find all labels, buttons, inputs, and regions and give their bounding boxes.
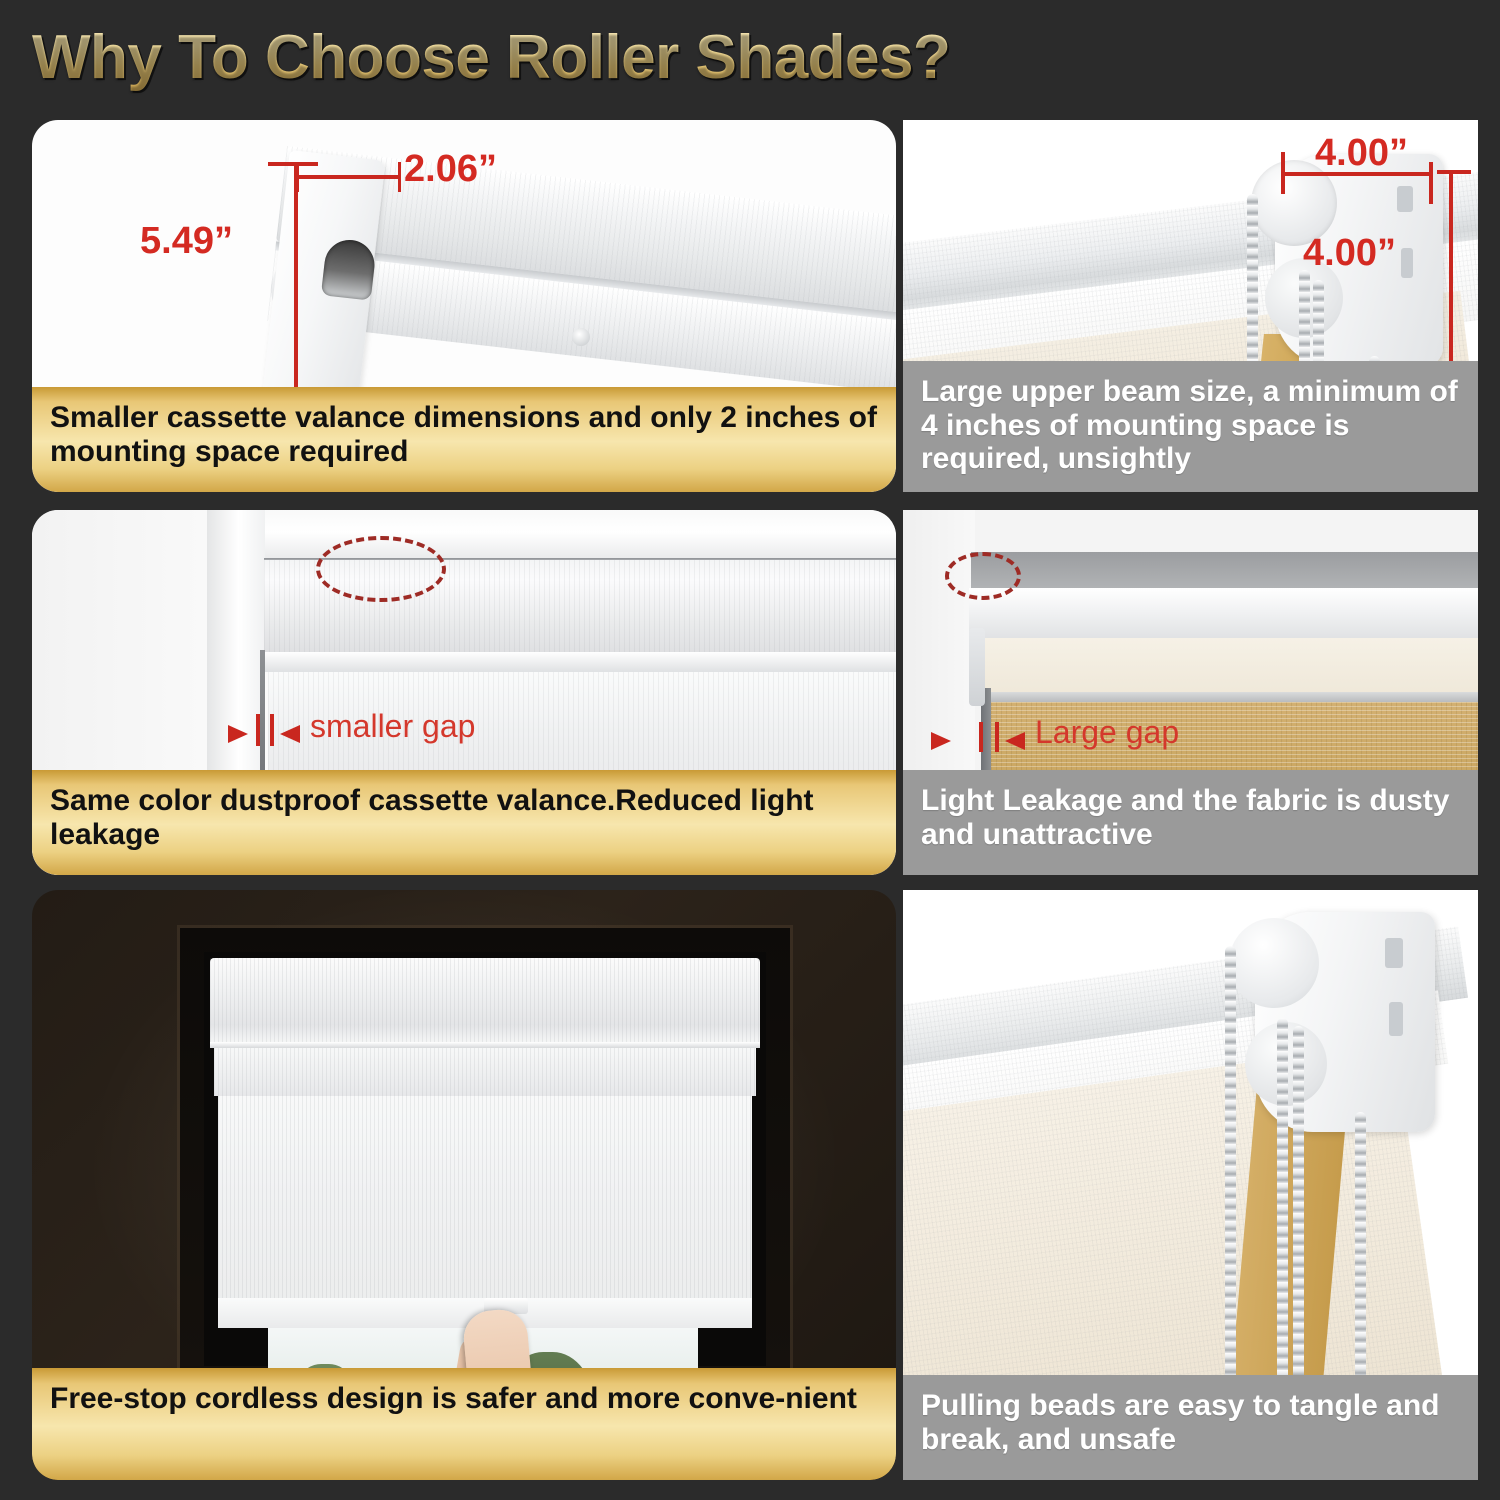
caption-good-small-gap: Same color dustproof cassette valance.Re…: [32, 770, 896, 875]
bead-chain-4[interactable]: [1355, 1112, 1366, 1386]
bead-chain-2[interactable]: [1277, 1018, 1288, 1386]
dim-h-line: [296, 175, 401, 179]
bead-chain-3[interactable]: [1293, 1026, 1304, 1386]
caption-good-cordless: Free-stop cordless design is safer and m…: [32, 1368, 896, 1480]
dim-h-tick-right: [398, 162, 401, 192]
dimension-label-beam-width: 4.00”: [1315, 132, 1408, 175]
bracket-notch-2: [1401, 248, 1413, 278]
annotation-smaller-gap: smaller gap: [310, 708, 475, 745]
gap-bar-right: [270, 714, 274, 746]
cassette-lip: [264, 652, 896, 672]
bracket-notch-1: [1385, 938, 1403, 968]
bead-chain-1[interactable]: [1225, 946, 1236, 1386]
panel-good-cordless: Free-stop cordless design is safer and m…: [32, 890, 896, 1480]
dim-h-tick-right: [1429, 162, 1433, 204]
valance-lower-lip: [214, 1048, 756, 1096]
caption-good-cassette-size: Smaller cassette valance dimensions and …: [32, 387, 896, 492]
highlight-ellipse-icon: [316, 536, 446, 602]
dim-v-tick-top: [268, 162, 318, 166]
gap-bar-right: [995, 722, 999, 752]
annotation-large-gap: Large gap: [1035, 714, 1179, 751]
caption-bad-pull-beads: Pulling beads are easy to tangle and bre…: [903, 1375, 1478, 1480]
side-bracket: [969, 628, 985, 706]
fabric-cream-band: [969, 638, 1478, 696]
gap-arrow-right-icon: [228, 725, 248, 743]
gap-arrow-right-icon: [931, 732, 951, 750]
highlight-ellipse-icon: [945, 552, 1021, 600]
dim-v-line: [1449, 170, 1453, 370]
bracket-round-cap-top: [1229, 918, 1319, 1008]
dimension-label-width: 2.06”: [404, 148, 497, 191]
window-frame-top: [207, 510, 896, 560]
gap-arrow-left-icon: [1005, 732, 1025, 750]
shade-fabric: [218, 1096, 752, 1310]
gap-arrow-left-icon: [280, 725, 300, 743]
panel-bad-beam-size: 4.00” 4.00” Large upper beam size, a min…: [903, 120, 1478, 492]
dimension-label-beam-depth: 4.00”: [1303, 232, 1396, 275]
bracket-notch-2: [1389, 1002, 1403, 1036]
bracket-notch-1: [1397, 186, 1413, 212]
panel-bad-large-gap: Large gap Light Leakage and the fabric i…: [903, 510, 1478, 875]
dim-v-tick-top: [1437, 170, 1471, 174]
caption-bad-beam-size: Large upper beam size, a minimum of 4 in…: [903, 361, 1478, 492]
fabric-edge: [969, 692, 1478, 702]
bracket-screw-upper: [572, 328, 590, 346]
dimension-label-height: 5.49”: [140, 220, 233, 263]
panel-good-cassette-size: 2.06” 5.49” Smaller cassette valance dim…: [32, 120, 896, 492]
gap-bar-left: [979, 722, 983, 752]
panel-bad-pull-beads: Pulling beads are easy to tangle and bre…: [903, 890, 1478, 1480]
caption-bad-large-gap: Light Leakage and the fabric is dusty an…: [903, 770, 1478, 875]
cassette-valance: [210, 958, 760, 1044]
page-title: Why To Choose Roller Shades?: [32, 22, 1232, 94]
panel-good-small-gap: smaller gap Same color dustproof cassett…: [32, 510, 896, 875]
gap-bar-left: [256, 714, 260, 746]
